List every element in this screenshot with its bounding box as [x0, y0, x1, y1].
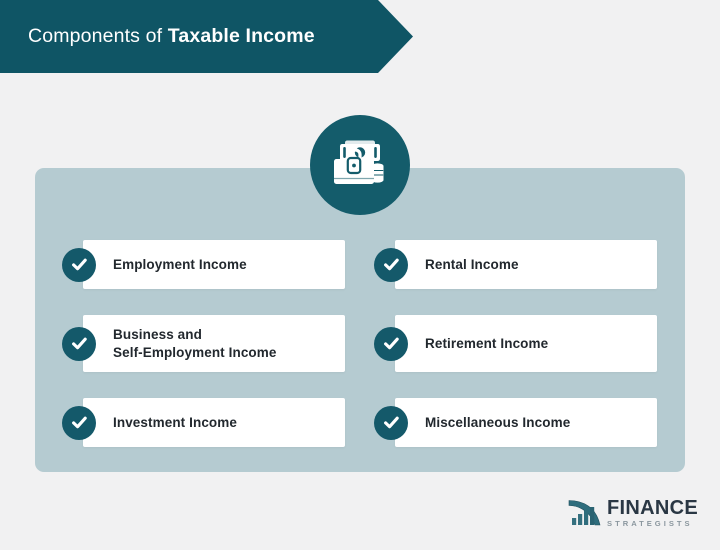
list-item[interactable]: Retirement Income	[395, 315, 657, 372]
page-title-bold: Taxable Income	[168, 25, 315, 47]
list-item-label: Rental Income	[425, 256, 519, 273]
list-item[interactable]: Rental Income	[395, 240, 657, 289]
briefcase-money-badge	[310, 115, 410, 215]
bar-chart-swoosh-icon	[568, 498, 602, 528]
check-icon	[62, 406, 96, 440]
header-banner: Components of Taxable Income	[0, 0, 413, 73]
brand-logo: FINANCE STRATEGISTS	[568, 498, 698, 528]
list-item[interactable]: Business and Self-Employment Income	[83, 315, 345, 372]
income-components-grid: Employment Income Rental Income Business…	[83, 240, 657, 447]
page-title: Components of Taxable Income	[28, 25, 315, 48]
check-icon	[374, 406, 408, 440]
check-icon	[62, 327, 96, 361]
brand-name-primary: FINANCE	[607, 498, 698, 518]
check-icon	[374, 248, 408, 282]
check-icon	[374, 327, 408, 361]
page-title-regular: Components of	[28, 25, 168, 47]
brand-name-secondary: STRATEGISTS	[607, 520, 698, 528]
briefcase-money-icon	[331, 139, 389, 191]
list-item-label: Investment Income	[113, 414, 237, 431]
list-item-label: Employment Income	[113, 256, 247, 273]
infographic-canvas: Components of Taxable Income	[0, 0, 720, 550]
list-item-label: Miscellaneous Income	[425, 414, 570, 431]
list-item[interactable]: Investment Income	[83, 398, 345, 447]
list-item[interactable]: Miscellaneous Income	[395, 398, 657, 447]
check-icon	[62, 248, 96, 282]
list-item-label: Business and Self-Employment Income	[113, 326, 276, 361]
list-item-label: Retirement Income	[425, 335, 548, 352]
list-item[interactable]: Employment Income	[83, 240, 345, 289]
brand-logo-text: FINANCE STRATEGISTS	[607, 498, 698, 528]
